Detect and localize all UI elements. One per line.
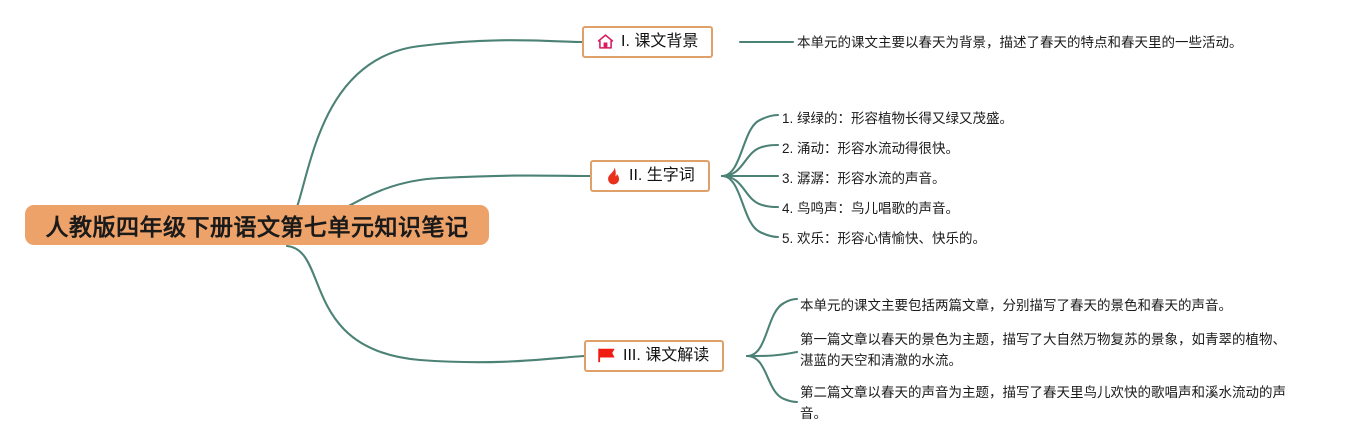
mindmap-canvas: 人教版四年级下册语文第七单元知识笔记 I. 课文背景 II. 生字词 [0,0,1368,446]
root-node-label: 人教版四年级下册语文第七单元知识笔记 [46,208,469,242]
branch-node-2[interactable]: II. 生字词 [590,160,710,192]
leaf-text: 本单元的课文主要包括两篇文章，分别描写了春天的景色和春天的声音。 [800,295,1232,316]
leaf-text: 4. 鸟鸣声：鸟儿唱歌的声音。 [782,198,959,219]
connector-branch-2-leaf-4 [722,176,778,237]
connector-root-branch-1 [285,40,582,224]
leaf-text: 2. 涌动：形容水流动得很快。 [782,138,959,159]
leaf-text: 5. 欢乐：形容心情愉快、快乐的。 [782,228,986,249]
connector-branch-3-leaf-2 [747,356,797,402]
connector-branch-2-leaf-1 [722,145,778,176]
leaf-text: 本单元的课文主要以春天为背景，描述了春天的特点和春天里的一些活动。 [797,32,1243,53]
branch-node-1[interactable]: I. 课文背景 [582,26,713,58]
flame-icon [604,167,622,185]
leaf-text: 3. 潺潺：形容水流的声音。 [782,168,946,189]
leaf-text: 第一篇文章以春天的景色为主题，描写了大自然万物复苏的景象，如青翠的植物、湛蓝的天… [800,329,1292,371]
leaf-text: 1. 绿绿的：形容植物长得又绿又茂盛。 [782,108,1013,129]
connector-branch-3-leaf-0 [747,299,797,356]
root-node[interactable]: 人教版四年级下册语文第七单元知识笔记 [25,205,489,245]
flag-icon [598,347,616,365]
branch-node-3-label: III. 课文解读 [623,348,709,364]
connector-branch-2-leaf-3 [722,176,778,207]
branch-node-1-label: I. 课文背景 [621,34,698,50]
connector-branch-2-leaf-0 [722,115,778,176]
branch-node-2-label: II. 生字词 [629,168,695,184]
connector-branch-3-leaf-1 [747,352,797,356]
branch-node-3[interactable]: III. 课文解读 [584,340,724,372]
connector-root-branch-3 [287,246,584,362]
home-icon [596,33,614,51]
leaf-text: 第二篇文章以春天的声音为主题，描写了春天里鸟儿欢快的歌唱声和溪水流动的声音。 [800,382,1292,424]
